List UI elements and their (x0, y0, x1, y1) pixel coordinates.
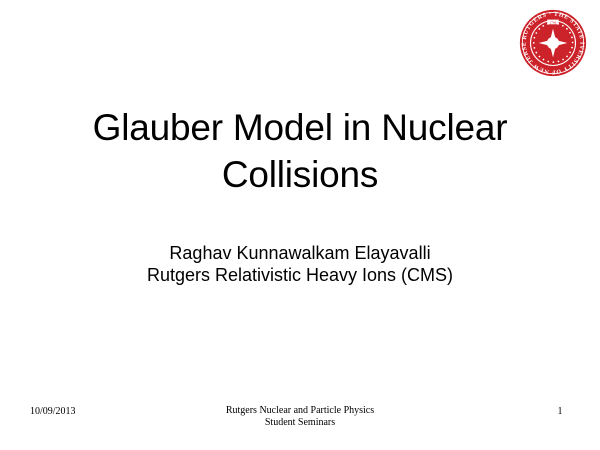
svg-text:1766: 1766 (550, 20, 557, 24)
footer-page-number: 1 (540, 405, 580, 418)
slide-title-line-1: Glauber Model in Nuclear (30, 104, 570, 151)
slide-subtitle: Raghav Kunnawalkam Elayavalli Rutgers Re… (40, 242, 560, 286)
slide-title: Glauber Model in Nuclear Collisions (30, 104, 570, 198)
rutgers-seal-icon: RUTGERS · THE STATE UNIVERSITY OF NEW JE… (517, 7, 589, 79)
footer-center-line-1: Rutgers Nuclear and Particle Physics (150, 405, 450, 417)
presenter-affiliation: Rutgers Relativistic Heavy Ions (CMS) (40, 264, 560, 286)
rutgers-seal-logo: RUTGERS · THE STATE UNIVERSITY OF NEW JE… (517, 7, 589, 79)
presenter-name: Raghav Kunnawalkam Elayavalli (40, 242, 560, 264)
presentation-slide: RUTGERS · THE STATE UNIVERSITY OF NEW JE… (0, 0, 600, 450)
footer-center-line-2: Student Seminars (150, 417, 450, 429)
footer-center-text: Rutgers Nuclear and Particle Physics Stu… (150, 405, 450, 429)
slide-title-line-2: Collisions (30, 151, 570, 198)
slide-footer: 10/09/2013 Rutgers Nuclear and Particle … (0, 403, 600, 433)
footer-date: 10/09/2013 (30, 405, 76, 418)
